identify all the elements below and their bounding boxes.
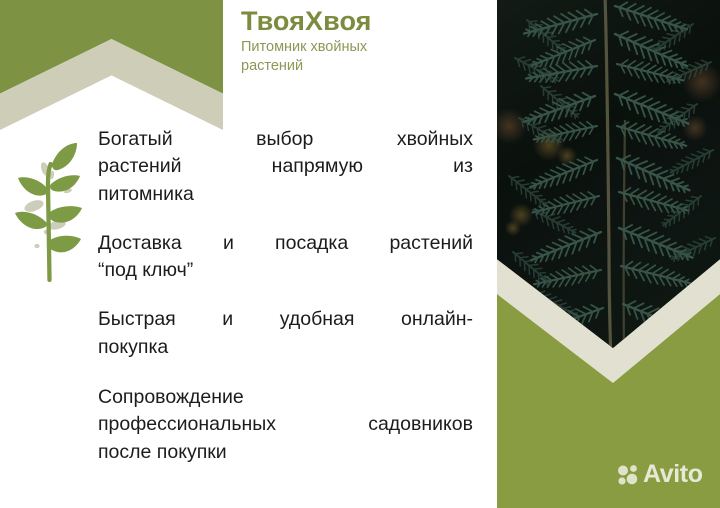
- bullet-line: питомника: [98, 183, 194, 205]
- bullet-line: Доставка и посадка растений: [98, 230, 473, 257]
- avito-wordmark: Avito: [643, 462, 703, 487]
- chevron-decoration-top-left: [0, 0, 223, 130]
- bullet-line: растений напрямую из: [98, 153, 473, 180]
- list-item: Сопровождение профессиональных садовнико…: [98, 384, 473, 466]
- bullet-line: Сопровождение: [98, 386, 244, 408]
- brand-block: ТвояХвоя Питомник хвойных растений: [241, 6, 477, 75]
- bullet-line: Быстрая и удобная онлайн-: [98, 306, 473, 333]
- plant-branch-icon: [14, 128, 92, 308]
- advertisement-poster: ТвояХвоя Питомник хвойных растений: [0, 0, 720, 508]
- list-item: Быстрая и удобная онлайн- покупка: [98, 306, 473, 361]
- bullet-line: “под ключ”: [98, 259, 193, 281]
- bullet-line: покупка: [98, 336, 168, 358]
- brand-title: ТвояХвоя: [241, 6, 477, 36]
- list-item: Богатый выбор хвойных растений напрямую …: [98, 126, 473, 208]
- list-item: Доставка и посадка растений “под ключ”: [98, 230, 473, 285]
- brand-subtitle: Питомник хвойных растений: [241, 38, 431, 75]
- conifer-branches-photo: [497, 0, 720, 508]
- bullet-line: профессиональных садовников: [98, 411, 473, 438]
- bullet-line: Богатый выбор хвойных: [98, 126, 473, 153]
- right-image-panel: [497, 0, 720, 508]
- bullet-line: после покупки: [98, 441, 227, 463]
- benefit-list: Богатый выбор хвойных растений напрямую …: [98, 126, 473, 466]
- avito-dots-icon: [617, 464, 639, 486]
- avito-watermark: Avito: [617, 462, 703, 487]
